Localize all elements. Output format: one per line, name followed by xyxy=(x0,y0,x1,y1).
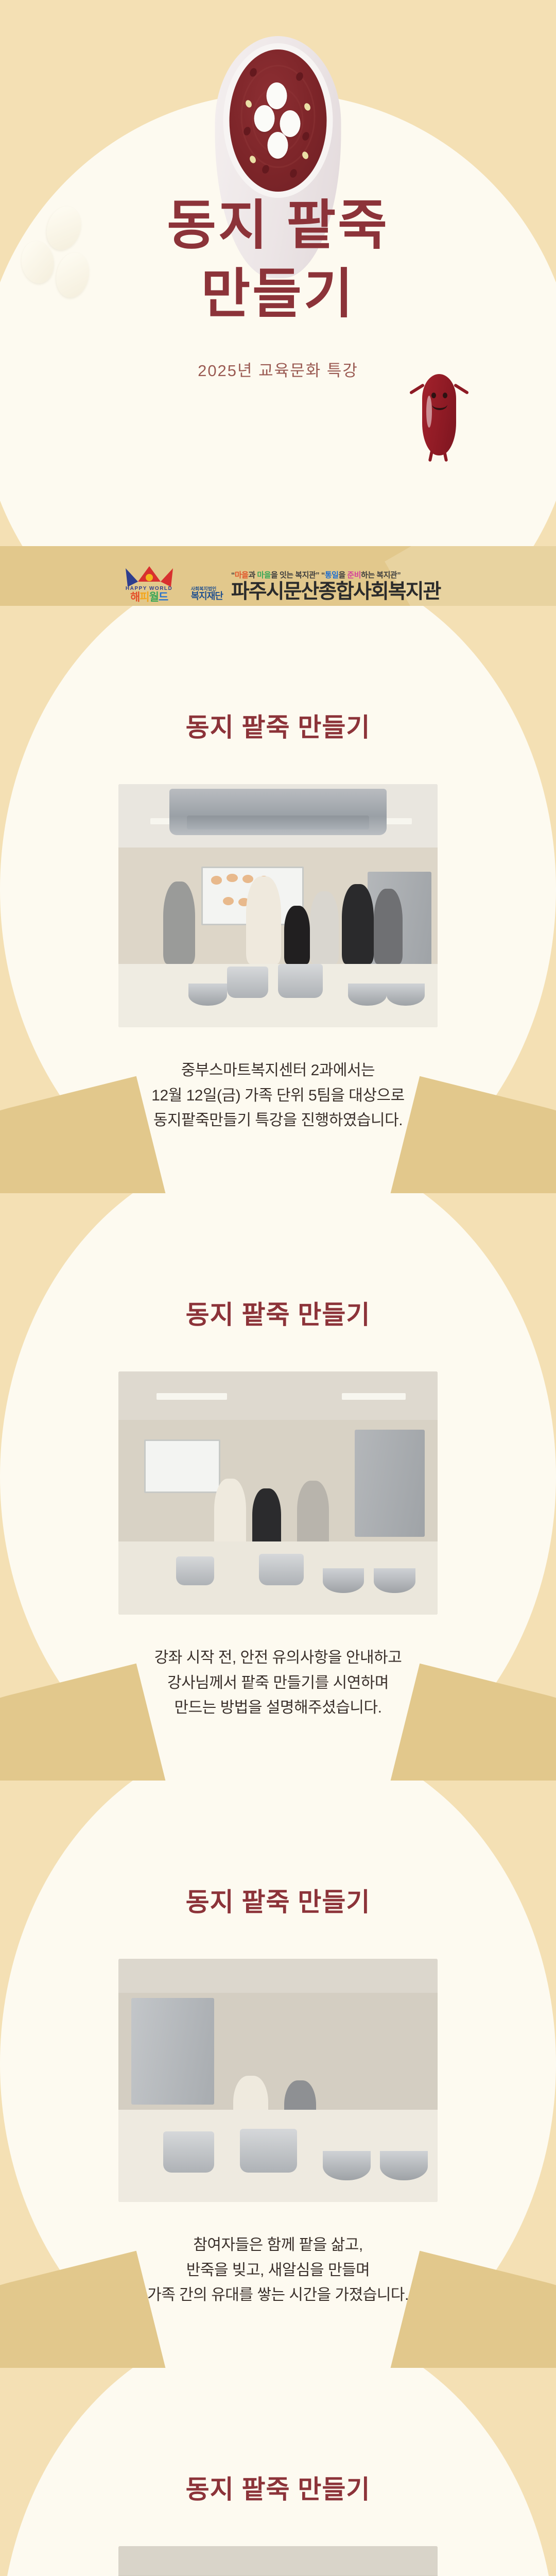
caption-line: 12월 12일(금) 가족 단위 5팀을 대상으로 xyxy=(62,1083,494,1109)
org-name-block: “마을과 마을을 잇는 복지관” “통일을 준비하는 복지관” 파주시문산종합사… xyxy=(231,569,441,603)
section-photo-wrap xyxy=(118,1959,438,2202)
happyworld-logo: HAPPY WORLD 해피월드 xyxy=(116,564,183,603)
section-photo-wrap xyxy=(118,2546,438,2576)
org-slogan: “마을과 마을을 잇는 복지관” “통일을 준비하는 복지관” xyxy=(231,569,441,580)
section-caption: 참여자들은 함께 팥을 삶고, 반죽을 빚고, 새알심을 만들며 가족 간의 유… xyxy=(62,2233,494,2308)
section-heading: 동지 팥죽 만들기 xyxy=(0,1193,556,1331)
hero-title-line-2: 만들기 xyxy=(0,260,556,329)
org-name: 파주시문산종합사회복지관 xyxy=(231,582,441,602)
section-caption: 중부스마트복지센터 2과에서는 12월 12일(금) 가족 단위 5팀을 대상으… xyxy=(62,1058,494,1133)
hero-text-block: 동지 팥죽 만들기 2025년 교육문화 특강 xyxy=(0,192,556,381)
org-bar-top: HAPPY WORLD 해피월드 사회복지법인 복지재단 “마을과 마을을 잇는… xyxy=(0,546,556,606)
happyworld-korean-label: 해피월드 xyxy=(116,592,183,603)
section-heading: 동지 팥죽 만들기 xyxy=(0,606,556,744)
hero-title-line-1: 동지 팥죽 xyxy=(0,192,556,260)
foundation-label: 사회복지법인 복지재단 xyxy=(191,587,223,603)
foundation-main-label: 복지재단 xyxy=(191,591,223,602)
content-section: 동지 팥죽 만들기 다함께 완성한 팥죽을 맛보고, xyxy=(0,2368,556,2576)
caption-line: 중부스마트복지센터 2과에서는 xyxy=(62,1058,494,1083)
caption-line: 반죽을 빚고, 새알심을 만들며 xyxy=(62,2258,494,2283)
caption-line: 강사님께서 팥죽 만들기를 시연하며 xyxy=(62,1671,494,1696)
section-photo-wrap xyxy=(118,1371,438,1615)
content-section: 동지 팥죽 만들기 참여자들은 함께 팥을 삶고, 반죽을 빚 xyxy=(0,1781,556,2368)
caption-line: 가족 간의 유대를 쌓는 시간을 가졌습니다. xyxy=(62,2283,494,2308)
tasting-finished-porridge-photo xyxy=(118,2546,438,2576)
caption-line: 참여자들은 함께 팥을 삶고, xyxy=(62,2233,494,2258)
cooking-class-instructor-briefing-photo xyxy=(118,784,438,1027)
caption-line: 동지팥죽만들기 특강을 진행하였습니다. xyxy=(62,1108,494,1133)
happyworld-mark-icon xyxy=(116,564,183,589)
section-caption: 강좌 시작 전, 안전 유의사항을 안내하고 강사님께서 팥죽 만들기를 시연하… xyxy=(62,1646,494,1721)
participants-boiling-beans-photo xyxy=(118,1959,438,2202)
section-heading: 동지 팥죽 만들기 xyxy=(0,2368,556,2506)
content-section: 동지 팥죽 만들기 xyxy=(0,1193,556,1781)
caption-line: 강좌 시작 전, 안전 유의사항을 안내하고 xyxy=(62,1646,494,1671)
instructor-demonstrating-porridge-photo xyxy=(118,1371,438,1615)
content-section: 동지 팥죽 만들기 xyxy=(0,606,556,1193)
caption-line: 만드는 방법을 설명해주셨습니다. xyxy=(62,1696,494,1721)
header-hero: 동지 팥죽 만들기 2025년 교육문화 특강 xyxy=(0,0,556,546)
red-bean-mascot-icon xyxy=(415,369,463,461)
section-heading: 동지 팥죽 만들기 xyxy=(0,1781,556,1919)
section-photo-wrap xyxy=(118,784,438,1027)
hero-subtitle: 2025년 교육문화 특강 xyxy=(0,358,556,381)
